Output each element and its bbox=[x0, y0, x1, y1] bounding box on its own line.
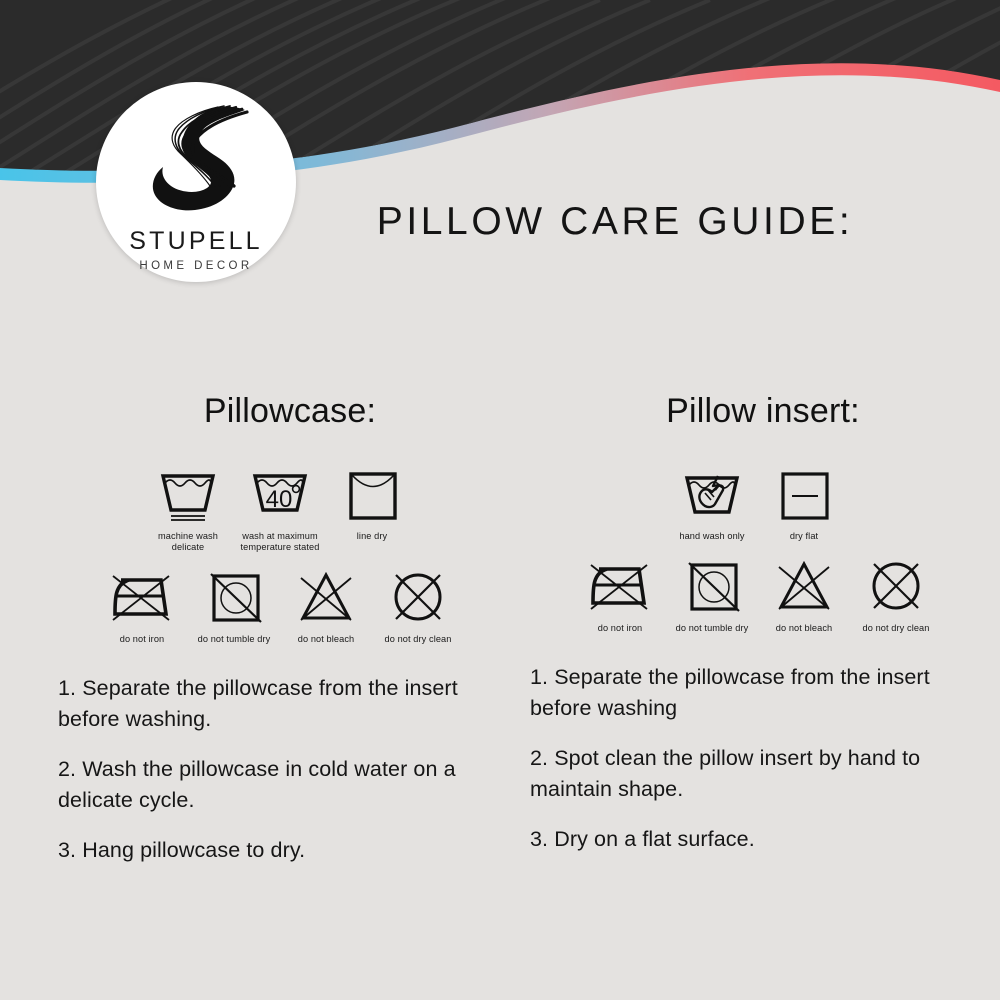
wash-at-maximum-temperature-icon: 40 bbox=[249, 464, 311, 526]
do-not-bleach-icon bbox=[295, 567, 357, 629]
section-pillow-insert: Pillow insert: hand wash only bbox=[528, 392, 988, 874]
logo-wordmark: STUPELL bbox=[129, 229, 263, 254]
machine-wash-delicate-symbol: machine washdelicate bbox=[142, 464, 234, 553]
instructions-pillowcase: 1. Separate the pillowcase from the inse… bbox=[50, 673, 510, 866]
hand-wash-only-symbol: hand wash only bbox=[666, 464, 758, 542]
do-not-dry-clean-symbol: do not dry clean bbox=[372, 567, 464, 645]
do-not-dry-clean-icon bbox=[865, 556, 927, 618]
do-not-dry-clean-symbol: do not dry clean bbox=[850, 556, 942, 634]
do-not-tumble-dry-symbol: do not tumble dry bbox=[666, 556, 758, 634]
symbol-caption: do not bleach bbox=[298, 634, 354, 645]
symbol-caption: dry flat bbox=[790, 531, 818, 542]
instructions-pillow-insert: 1. Separate the pillowcase from the inse… bbox=[528, 662, 988, 855]
symbol-caption: machine washdelicate bbox=[158, 531, 218, 553]
section-heading-pillow-insert: Pillow insert: bbox=[528, 392, 988, 442]
line-dry-symbol: line dry bbox=[326, 464, 418, 542]
svg-text:40: 40 bbox=[266, 486, 293, 513]
section-heading-pillowcase: Pillowcase: bbox=[50, 392, 510, 442]
symbol-caption: do not tumble dry bbox=[676, 623, 749, 634]
instruction-step: 1. Separate the pillowcase from the inse… bbox=[58, 673, 510, 735]
logo-tagline: HOME DECOR bbox=[139, 261, 252, 273]
do-not-tumble-dry-icon bbox=[681, 556, 743, 618]
hand-wash-only-icon bbox=[681, 464, 743, 526]
symbol-caption: do not iron bbox=[120, 634, 165, 645]
symbol-caption: do not tumble dry bbox=[198, 634, 271, 645]
brand-logo: STUPELL HOME DECOR bbox=[96, 82, 296, 282]
line-dry-icon bbox=[341, 464, 403, 526]
do-not-iron-icon bbox=[111, 567, 173, 629]
instruction-step: 2. Wash the pillowcase in cold water on … bbox=[58, 754, 510, 816]
instruction-step: 2. Spot clean the pillow insert by hand … bbox=[530, 743, 988, 805]
do-not-iron-icon bbox=[589, 556, 651, 618]
do-not-iron-symbol: do not iron bbox=[96, 567, 188, 645]
section-pillowcase: Pillowcase: machine washdelicate bbox=[50, 392, 510, 885]
wash-at-maximum-temperature-symbol: 40 wash at maximumtemperature stated bbox=[234, 464, 326, 553]
do-not-bleach-symbol: do not bleach bbox=[280, 567, 372, 645]
symbol-caption: do not dry clean bbox=[863, 623, 930, 634]
symbol-caption: wash at maximumtemperature stated bbox=[241, 531, 320, 553]
symbol-caption: line dry bbox=[357, 531, 387, 542]
do-not-iron-symbol: do not iron bbox=[574, 556, 666, 634]
machine-wash-delicate-icon bbox=[157, 464, 219, 526]
dry-flat-symbol: dry flat bbox=[758, 464, 850, 542]
care-symbols-pillow-insert: hand wash only dry flat bbox=[528, 464, 988, 634]
stupell-s-swoosh-icon bbox=[133, 98, 259, 227]
instruction-step: 1. Separate the pillowcase from the inse… bbox=[530, 662, 988, 724]
dry-flat-icon bbox=[773, 464, 835, 526]
symbol-caption: do not iron bbox=[598, 623, 643, 634]
symbol-caption: do not bleach bbox=[776, 623, 832, 634]
care-symbols-pillowcase: machine washdelicate 40 wash at maximumt… bbox=[50, 464, 510, 645]
instruction-step: 3. Hang pillowcase to dry. bbox=[58, 835, 510, 866]
symbol-caption: hand wash only bbox=[679, 531, 744, 542]
instruction-step: 3. Dry on a flat surface. bbox=[530, 824, 988, 855]
do-not-dry-clean-icon bbox=[387, 567, 449, 629]
symbol-caption: do not dry clean bbox=[385, 634, 452, 645]
do-not-tumble-dry-symbol: do not tumble dry bbox=[188, 567, 280, 645]
do-not-bleach-symbol: do not bleach bbox=[758, 556, 850, 634]
do-not-bleach-icon bbox=[773, 556, 835, 618]
do-not-tumble-dry-icon bbox=[203, 567, 265, 629]
